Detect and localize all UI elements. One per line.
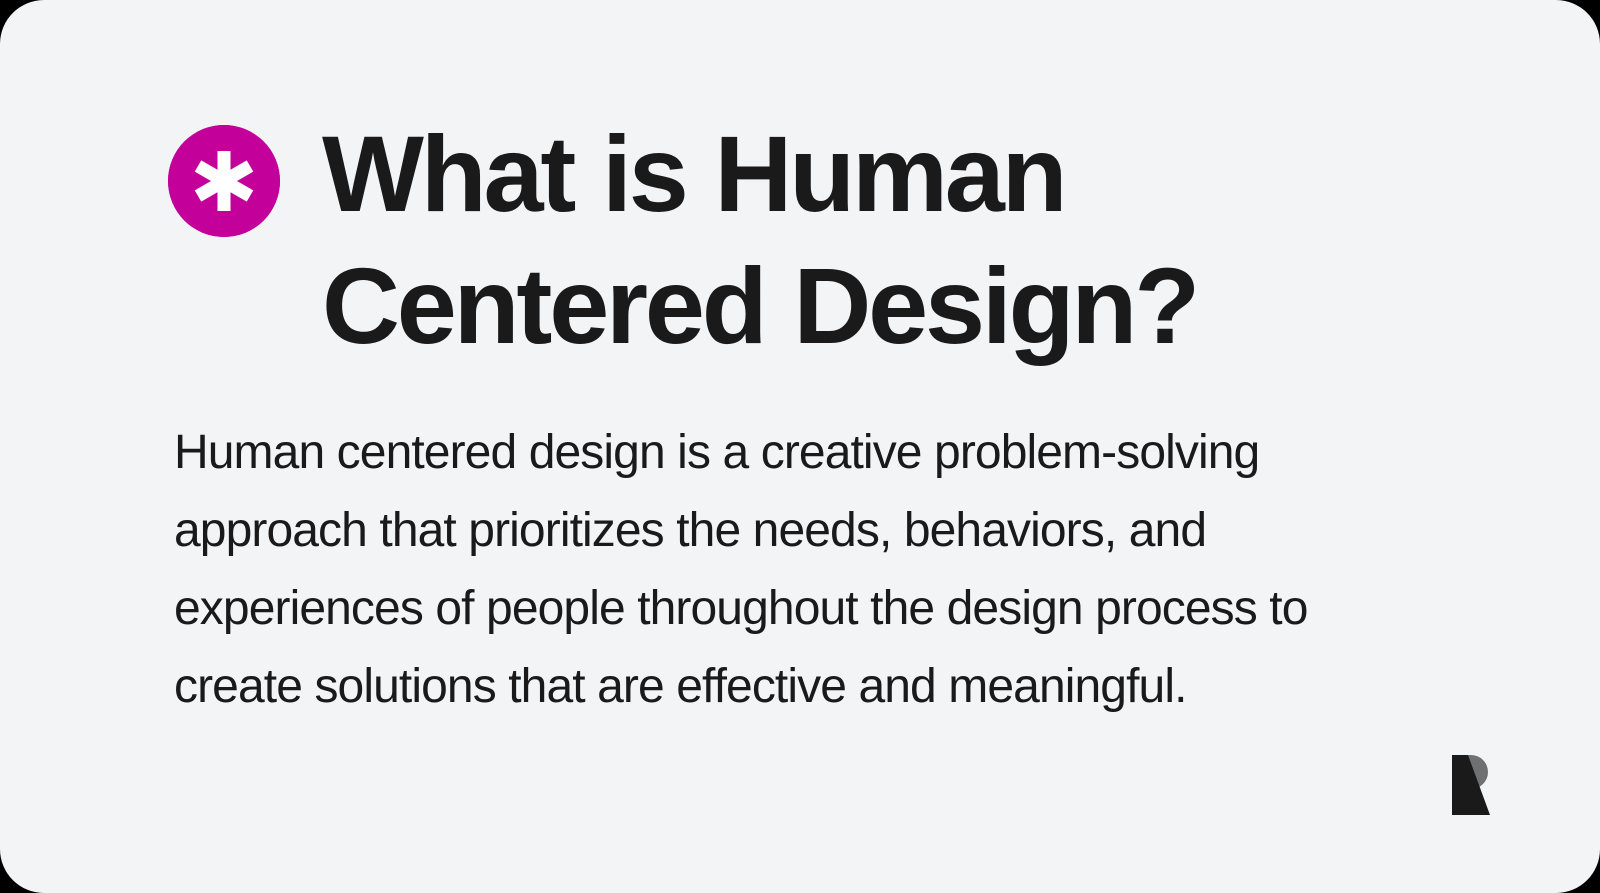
brand-r-logo	[1452, 755, 1490, 815]
content-card: What is Human Centered Design? Human cen…	[0, 0, 1600, 893]
body-paragraph: Human centered design is a creative prob…	[174, 414, 1396, 726]
asterisk-icon	[168, 125, 280, 237]
page-title: What is Human Centered Design?	[322, 108, 1352, 372]
heading-block: What is Human Centered Design?	[168, 108, 1448, 372]
